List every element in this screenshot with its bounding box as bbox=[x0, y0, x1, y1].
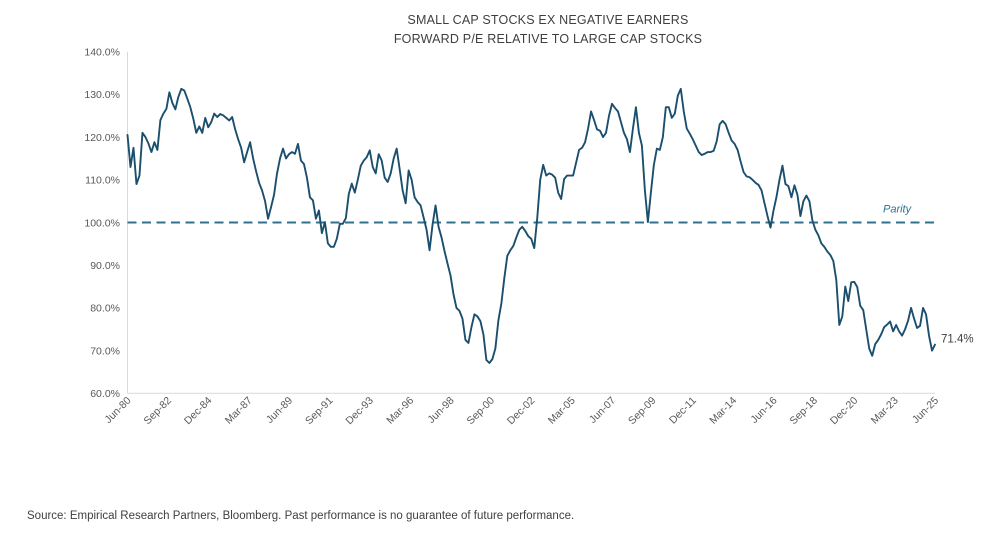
y-tick-label: 70.0% bbox=[90, 345, 120, 357]
x-tick-label: Jun-25 bbox=[910, 395, 941, 426]
x-axis-ticks: Jun-80Sep-82Dec-84Mar-87Jun-89Sep-91Dec-… bbox=[102, 395, 941, 428]
x-tick-label: Dec-84 bbox=[182, 395, 215, 428]
y-tick-label: 80.0% bbox=[90, 303, 120, 315]
source-note: Source: Empirical Research Partners, Blo… bbox=[27, 510, 574, 522]
x-tick-label: Mar-23 bbox=[869, 395, 901, 427]
x-tick-label: Jun-89 bbox=[264, 395, 295, 426]
x-tick-label: Sep-91 bbox=[303, 395, 336, 428]
y-axis-ticks: 140.0%130.0%120.0%110.0%100.0%90.0%80.0%… bbox=[84, 47, 120, 401]
x-tick-label: Mar-05 bbox=[546, 395, 578, 427]
y-tick-label: 60.0% bbox=[90, 388, 120, 400]
x-tick-label: Sep-09 bbox=[626, 395, 659, 428]
y-tick-label: 140.0% bbox=[84, 47, 120, 59]
x-tick-label: Dec-02 bbox=[505, 395, 538, 428]
x-tick-label: Dec-20 bbox=[828, 395, 861, 428]
x-tick-label: Dec-93 bbox=[343, 395, 376, 428]
y-tick-label: 90.0% bbox=[90, 260, 120, 272]
x-tick-label: Dec-11 bbox=[667, 395, 699, 427]
x-tick-label: Sep-18 bbox=[788, 395, 821, 428]
x-tick-label: Jun-98 bbox=[425, 395, 456, 426]
y-tick-label: 120.0% bbox=[84, 132, 120, 144]
data-series bbox=[128, 89, 936, 363]
chart-card: SMALL CAP STOCKS EX NEGATIVE EARNERS FOR… bbox=[0, 0, 997, 533]
y-tick-label: 110.0% bbox=[85, 175, 120, 187]
parity-label: Parity bbox=[883, 204, 913, 216]
x-tick-label: Jun-07 bbox=[587, 395, 618, 426]
series-line bbox=[128, 89, 936, 363]
line-chart-plot: 140.0%130.0%120.0%110.0%100.0%90.0%80.0%… bbox=[0, 0, 997, 470]
x-tick-label: Sep-00 bbox=[465, 395, 498, 428]
x-tick-label: Mar-96 bbox=[384, 395, 416, 427]
x-tick-label: Jun-16 bbox=[748, 395, 779, 426]
y-tick-label: 130.0% bbox=[84, 89, 120, 101]
last-value-label: 71.4% bbox=[941, 334, 974, 346]
x-tick-label: Sep-82 bbox=[142, 395, 175, 428]
y-tick-label: 100.0% bbox=[84, 217, 120, 229]
x-tick-label: Mar-14 bbox=[707, 395, 739, 427]
x-tick-label: Mar-87 bbox=[223, 395, 255, 427]
